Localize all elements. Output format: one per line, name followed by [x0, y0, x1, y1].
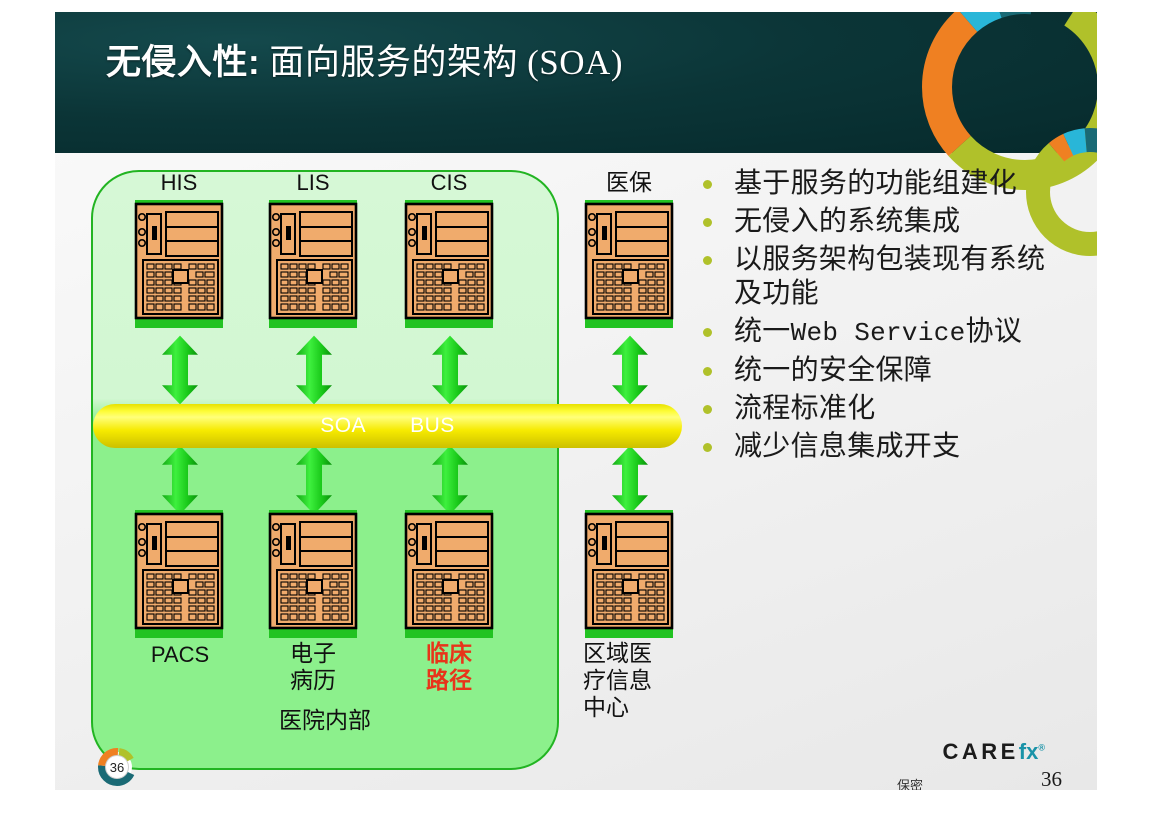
arrow-rhic [612, 446, 648, 515]
arrow-pacs [162, 446, 198, 515]
server-rhic [585, 510, 673, 638]
label-hospital-internal: 医院内部 [245, 707, 405, 734]
label-pacs: PACS [125, 642, 235, 667]
bullet-text: 无侵入的系统集成 [734, 205, 960, 239]
bullet-dot-icon [703, 405, 712, 414]
bullet-dot-icon [703, 328, 712, 337]
soa-bus-right-label: BUS [410, 414, 455, 438]
bullet-suffix: 协议 [966, 316, 1023, 347]
arrow-cis [432, 336, 468, 405]
arrow-emr [296, 446, 332, 515]
soa-bus: SOA BUS [93, 404, 682, 448]
bullet-list: 基于服务的功能组建化 无侵入的系统集成 以服务架构包装现有系统 及功能 统一We… [695, 167, 1095, 468]
footer-confidential: 保密 [897, 775, 923, 790]
slide-root: 无侵入性: 面向服务的架构 (SOA) [0, 0, 1154, 829]
list-item: 统一Web Service协议 [695, 315, 1095, 350]
bullet-text: 流程标准化 [734, 392, 876, 426]
arrow-his [162, 336, 198, 405]
arrow-yibao [612, 336, 648, 405]
brand-main: CARE [942, 739, 1018, 764]
list-item: 基于服务的功能组建化 [695, 167, 1095, 201]
label-emr: 电子 病历 [267, 640, 359, 694]
server-pacs [135, 510, 223, 638]
server-pathway [405, 510, 493, 638]
bullet-dot-icon [703, 443, 712, 452]
slide-number-badge: 36 [97, 747, 137, 787]
server-emr [269, 510, 357, 638]
server-his [135, 200, 223, 328]
bullet-text-mixed: 统一Web Service协议 [734, 315, 1022, 350]
slide-canvas: 无侵入性: 面向服务的架构 (SOA) [55, 12, 1097, 790]
list-item: 以服务架构包装现有系统 及功能 [695, 243, 1095, 311]
label-cis: CIS [403, 170, 495, 195]
brand-logo-text: CAREfx® [942, 739, 1045, 764]
bullet-mono: Web Service [791, 318, 966, 348]
server-lis [269, 200, 357, 328]
list-item: 减少信息集成开支 [695, 430, 1095, 464]
bullet-text: 减少信息集成开支 [734, 430, 960, 464]
list-item: 统一的安全保障 [695, 354, 1095, 388]
bullet-dot-icon [703, 256, 712, 265]
bullet-dot-icon [703, 218, 712, 227]
brand-logo: CAREfx® [845, 739, 1045, 769]
arrow-lis [296, 336, 332, 405]
bullet-text: 以服务架构包装现有系统 及功能 [734, 243, 1045, 311]
server-cis [405, 200, 493, 328]
label-rhic: 区域医 疗信息 中心 [583, 640, 683, 721]
bullet-dot-icon [703, 180, 712, 189]
arrow-pathway [432, 446, 468, 515]
bullet-prefix: 统一 [734, 316, 791, 347]
list-item: 无侵入的系统集成 [695, 205, 1095, 239]
brand-accent: fx [1019, 739, 1039, 764]
label-lis: LIS [267, 170, 359, 195]
label-clinical-pathway: 临床 路径 [403, 640, 495, 694]
label-yibao: 医保 [583, 169, 675, 196]
bullet-text: 统一的安全保障 [734, 354, 932, 388]
brand-registered-icon: ® [1038, 743, 1045, 753]
soa-bus-left-label: SOA [320, 414, 366, 438]
soa-bus-labels: SOA BUS [93, 404, 682, 448]
server-yibao [585, 200, 673, 328]
bullet-text: 基于服务的功能组建化 [734, 167, 1017, 201]
list-item: 流程标准化 [695, 392, 1095, 426]
badge-number: 36 [97, 747, 137, 787]
bullet-dot-icon [703, 367, 712, 376]
footer-page-number: 36 [1041, 767, 1062, 790]
label-his: HIS [133, 170, 225, 195]
